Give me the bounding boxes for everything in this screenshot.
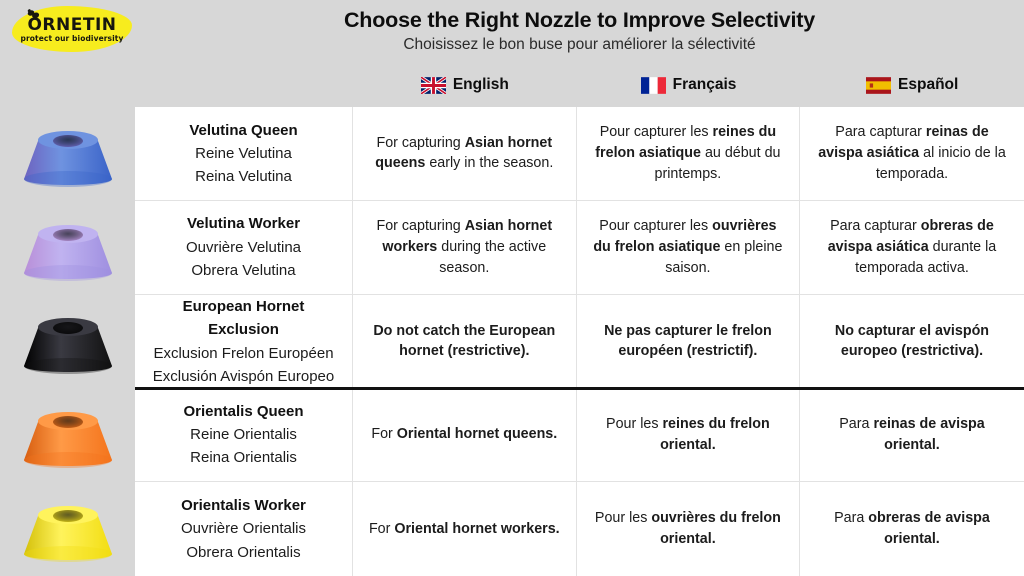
nozzle-name-cell: Orientalis WorkerOuvrière OrientalisObre…: [135, 482, 353, 576]
nozzle-name-cell: European Hornet ExclusionExclusion Frelo…: [135, 295, 353, 389]
page-title: Choose the Right Nozzle to Improve Selec…: [135, 8, 1024, 33]
nozzle-blue-graphic: [20, 117, 116, 191]
description-cell-french: Pour capturer les reines du frelon asiat…: [577, 107, 801, 200]
infographic-page: ORNETIN protect our biodiversity Choose …: [0, 0, 1024, 576]
language-header-french: Français: [577, 70, 801, 100]
language-label-spanish: Español: [898, 76, 958, 94]
description-cell-english: For Oriental hornet queens.: [353, 388, 577, 481]
comparison-table: Velutina QueenReine VelutinaReina Veluti…: [135, 107, 1024, 576]
nozzle-name-fr: Reine Orientalis: [190, 423, 297, 446]
language-header-row: English Français Español: [353, 70, 1024, 100]
row-group-orientalis: Orientalis QueenReine OrientalisReina Or…: [135, 388, 1024, 576]
description-cell-spanish: Para obreras de avispa oriental.: [800, 482, 1024, 576]
description-cell-french: Ne pas capturer le frelon européen (rest…: [577, 295, 801, 389]
description-cell-english: For Oriental hornet workers.: [353, 482, 577, 576]
logo-tagline: protect our biodiversity: [12, 34, 132, 43]
nozzle-name-en: Velutina Queen: [189, 119, 297, 142]
description-cell-english: Do not catch the European hornet (restri…: [353, 295, 577, 389]
language-label-english: English: [453, 76, 509, 94]
description-cell-spanish: Para reinas de avispa oriental.: [800, 388, 1024, 481]
nozzle-blue: [0, 107, 135, 201]
nozzle-name-en: European Hornet Exclusion: [149, 295, 338, 342]
table-row: Velutina WorkerOuvrière VelutinaObrera V…: [135, 201, 1024, 295]
nozzle-black: [0, 295, 135, 389]
logo-wordmark: ORNETIN: [12, 15, 132, 35]
description-cell-spanish: No capturar el avispón europeo (restrict…: [800, 295, 1024, 389]
table-row: Orientalis QueenReine OrientalisReina Or…: [135, 388, 1024, 482]
description-text: For capturing Asian hornet queens early …: [367, 133, 562, 174]
nozzle-name-es: Exclusión Avispón Europeo: [153, 365, 335, 388]
nozzle-image-column: [0, 107, 135, 576]
group-divider: [135, 387, 1024, 390]
nozzle-name-es: Obrera Velutina: [191, 259, 295, 282]
description-text: Ne pas capturer le frelon européen (rest…: [591, 321, 786, 362]
nozzle-name-fr: Ouvrière Velutina: [186, 236, 301, 259]
description-cell-french: Pour les ouvrières du frelon oriental.: [577, 482, 801, 576]
description-cell-french: Pour capturer les ouvrières du frelon as…: [577, 201, 801, 294]
nozzle-orange: [0, 388, 135, 482]
description-text: Para capturar reinas de avispa asiática …: [814, 122, 1010, 184]
nozzle-name-es: Reina Orientalis: [190, 446, 297, 469]
description-text: For Oriental hornet queens.: [371, 424, 557, 445]
description-text: For capturing Asian hornet workers durin…: [367, 216, 562, 278]
description-text: Pour les reines du frelon oriental.: [591, 414, 786, 455]
language-header-spanish: Español: [800, 70, 1024, 100]
nozzle-orange-graphic: [20, 398, 116, 472]
nozzle-name-en: Velutina Worker: [187, 212, 300, 235]
brand-logo[interactable]: ORNETIN protect our biodiversity: [12, 6, 132, 52]
page-subtitle: Choisissez le bon buse pour améliorer la…: [135, 36, 1024, 54]
description-cell-english: For capturing Asian hornet queens early …: [353, 107, 577, 200]
description-text: Pour capturer les reines du frelon asiat…: [591, 122, 786, 184]
nozzle-purple: [0, 201, 135, 295]
uk-flag-icon: [421, 77, 446, 94]
description-cell-spanish: Para capturar obreras de avispa asiática…: [800, 201, 1024, 294]
nozzle-name-fr: Exclusion Frelon Européen: [153, 342, 333, 365]
nozzle-name-fr: Reine Velutina: [195, 142, 292, 165]
nozzle-name-cell: Orientalis QueenReine OrientalisReina Or…: [135, 388, 353, 481]
description-cell-spanish: Para capturar reinas de avispa asiática …: [800, 107, 1024, 200]
nozzle-name-cell: Velutina QueenReine VelutinaReina Veluti…: [135, 107, 353, 200]
description-text: For Oriental hornet workers.: [369, 519, 560, 540]
france-flag-icon: [641, 77, 666, 94]
language-header-english: English: [353, 70, 577, 100]
nozzle-yellow-graphic: [20, 492, 116, 566]
nozzle-purple-graphic: [20, 211, 116, 285]
nozzle-name-cell: Velutina WorkerOuvrière VelutinaObrera V…: [135, 201, 353, 294]
table-row: Velutina QueenReine VelutinaReina Veluti…: [135, 107, 1024, 201]
description-text: Pour capturer les ouvrières du frelon as…: [591, 216, 786, 278]
nozzle-name-fr: Ouvrière Orientalis: [181, 517, 306, 540]
description-text: Para reinas de avispa oriental.: [814, 414, 1010, 455]
description-text: Pour les ouvrières du frelon oriental.: [591, 508, 786, 549]
table-row: Orientalis WorkerOuvrière OrientalisObre…: [135, 482, 1024, 576]
nozzle-name-en: Orientalis Worker: [181, 494, 306, 517]
description-text: Para capturar obreras de avispa asiática…: [814, 216, 1010, 278]
table-row: European Hornet ExclusionExclusion Frelo…: [135, 295, 1024, 389]
description-cell-english: For capturing Asian hornet workers durin…: [353, 201, 577, 294]
nozzle-name-es: Reina Velutina: [195, 165, 292, 188]
description-text: Para obreras de avispa oriental.: [814, 508, 1010, 549]
description-text: Do not catch the European hornet (restri…: [367, 321, 562, 362]
row-group-velutina: Velutina QueenReine VelutinaReina Veluti…: [135, 107, 1024, 388]
language-label-french: Français: [673, 76, 737, 94]
nozzle-name-es: Obrera Orientalis: [186, 541, 300, 564]
spain-flag-icon: [866, 77, 891, 94]
nozzle-yellow: [0, 482, 135, 576]
nozzle-name-en: Orientalis Queen: [183, 400, 303, 423]
nozzle-black-graphic: [20, 304, 116, 378]
description-text: No capturar el avispón europeo (restrict…: [814, 321, 1010, 362]
description-cell-french: Pour les reines du frelon oriental.: [577, 388, 801, 481]
